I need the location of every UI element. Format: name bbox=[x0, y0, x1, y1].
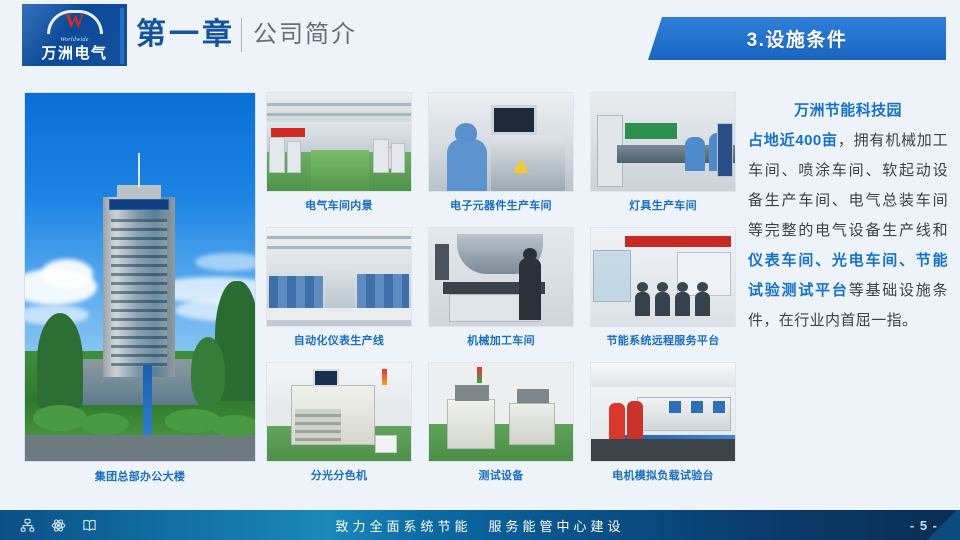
grid-item[interactable]: 电气车间内景 bbox=[266, 92, 412, 213]
thumbnail-test-equipment[interactable] bbox=[428, 362, 574, 462]
page-subtitle: 公司简介 bbox=[253, 18, 357, 52]
hero-image[interactable] bbox=[24, 92, 256, 462]
grid-item[interactable]: 电机模拟负载试验台 bbox=[590, 362, 736, 483]
logo-subtext: Worldwide bbox=[60, 37, 88, 43]
thumbnail-electronic-components-workshop[interactable] bbox=[428, 92, 574, 192]
grid-caption: 电机模拟负载试验台 bbox=[590, 467, 736, 483]
grid-caption: 机械加工车间 bbox=[428, 332, 574, 348]
grid-item[interactable]: 机械加工车间 bbox=[428, 227, 574, 348]
logo-letter: W bbox=[47, 12, 103, 31]
grid-caption: 自动化仪表生产线 bbox=[266, 332, 412, 348]
grid-item[interactable]: 分光分色机 bbox=[266, 362, 412, 483]
grid-caption: 分光分色机 bbox=[266, 467, 412, 483]
grid-caption: 测试设备 bbox=[428, 467, 574, 483]
grid-caption: 电子元器件生产车间 bbox=[428, 197, 574, 213]
logo-emblem-icon: W bbox=[47, 10, 103, 36]
grid-item[interactable]: 自动化仪表生产线 bbox=[266, 227, 412, 348]
thumbnail-machining-workshop[interactable] bbox=[428, 227, 574, 327]
grid-caption: 灯具生产车间 bbox=[590, 197, 736, 213]
thumbnail-lamp-production-workshop[interactable] bbox=[590, 92, 736, 192]
company-logo: W Worldwide 万洲电气 bbox=[22, 4, 127, 66]
description-seg-1: 占地近400亩 bbox=[748, 132, 838, 149]
footer-tagline: 致力全面系统节能 服务能管中心建设 bbox=[0, 516, 960, 535]
grid-caption: 节能系统远程服务平台 bbox=[590, 332, 736, 348]
thumbnail-motor-load-test-bench[interactable] bbox=[590, 362, 736, 462]
thumbnail-electrical-workshop[interactable] bbox=[266, 92, 412, 192]
description-lead: 万洲节能科技园 bbox=[748, 96, 948, 126]
section-banner: 3.设施条件 bbox=[648, 17, 946, 60]
grid-item[interactable]: 节能系统远程服务平台 bbox=[590, 227, 736, 348]
thumbnail-remote-service-platform[interactable] bbox=[590, 227, 736, 327]
header-accent-bar bbox=[120, 8, 124, 64]
hero-caption: 集团总部办公大楼 bbox=[24, 468, 256, 484]
grid-item[interactable]: 电子元器件生产车间 bbox=[428, 92, 574, 213]
footer-corner-decoration bbox=[924, 510, 960, 540]
grid-caption: 电气车间内景 bbox=[266, 197, 412, 213]
slide-header: W Worldwide 万洲电气 第一章 公司简介 3.设施条件 bbox=[0, 0, 960, 78]
header-divider bbox=[241, 18, 242, 52]
facility-image-grid: 电气车间内景 电子元器件生产车间 灯具生产车间 bbox=[266, 92, 736, 492]
grid-item[interactable]: 灯具生产车间 bbox=[590, 92, 736, 213]
grid-item[interactable]: 测试设备 bbox=[428, 362, 574, 483]
slide-footer: 致力全面系统节能 服务能管中心建设 - 5 - bbox=[0, 510, 960, 540]
thumbnail-spectrophotometer[interactable] bbox=[266, 362, 412, 462]
logo-company-name: 万洲电气 bbox=[41, 45, 107, 62]
description-seg-3: 等完整的电气设备生产线和 bbox=[748, 222, 948, 239]
thumbnail-automated-instrument-line[interactable] bbox=[266, 227, 412, 327]
section-banner-label: 3.设施条件 bbox=[747, 25, 848, 52]
chapter-title: 第一章 bbox=[136, 14, 235, 56]
description-text-panel: 万洲节能科技园占地近400亩，拥有机械加工车间、喷涂车间、软起动设备生产车间、电… bbox=[748, 96, 948, 486]
